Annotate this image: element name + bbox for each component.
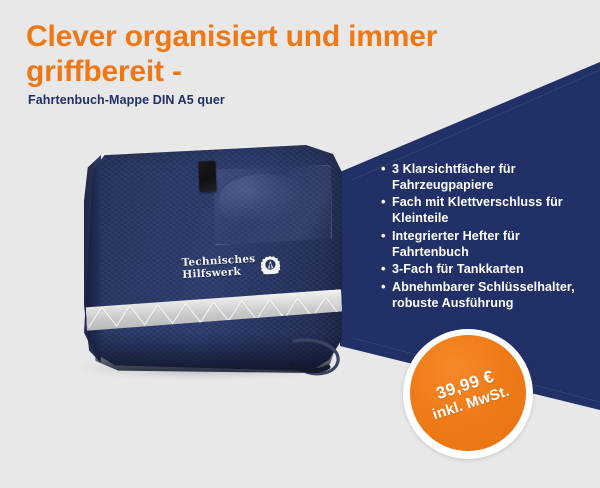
price-badge-text: 39,99 € inkl. MwSt.	[386, 312, 550, 476]
list-item: Abnehmbarer Schlüsselhalter, robuste Aus…	[381, 280, 593, 311]
product-promo-banner: Clever organisiert und immer griffbereit…	[0, 0, 600, 488]
list-item: 3-Fach für Tankkarten	[381, 262, 593, 278]
velcro-closure-tab	[198, 161, 216, 193]
zipper-pull-icon	[288, 335, 348, 383]
clear-document-pocket	[212, 165, 332, 245]
list-item: Fach mit Klettverschluss für Kleinteile	[381, 195, 593, 226]
headline-line-1: Clever organisiert und immer	[26, 20, 437, 53]
product-subtitle: Fahrtenbuch-Mappe DIN A5 quer	[28, 93, 496, 107]
page-title: Clever organisiert und immer griffbereit…	[26, 20, 496, 90]
price-badge: 39,99 € inkl. MwSt.	[403, 329, 533, 459]
thw-wordmark: Technisches Hilfswerk	[181, 254, 256, 282]
headline-line-2: griffbereit -	[26, 55, 182, 88]
thw-gear-logo-icon	[260, 255, 280, 275]
headline-block: Clever organisiert und immer griffbereit…	[26, 20, 496, 107]
list-item: Integrierter Hefter für Fahrtenbuch	[381, 229, 593, 260]
thw-wordmark-line-2: Hilfswerk	[182, 265, 241, 280]
product-image: Technisches Hilfswerk	[64, 143, 354, 398]
feature-list: 3 Klarsichtfächer für Fahrzeugpapiere Fa…	[381, 162, 593, 314]
list-item: 3 Klarsichtfächer für Fahrzeugpapiere	[381, 162, 593, 193]
